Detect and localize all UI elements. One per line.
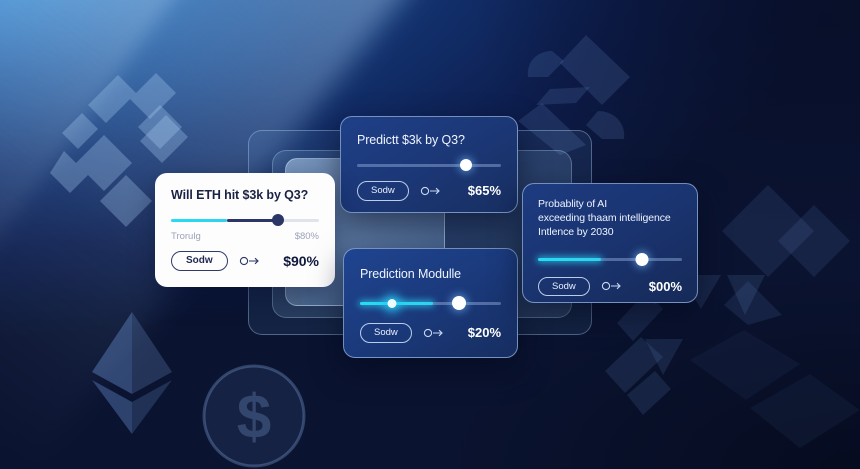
dollar-coin-icon: $	[198, 360, 310, 469]
geo-shape-far-right-icon	[690, 330, 860, 469]
scene-root: $ Predictt $3k by Q3? S	[0, 0, 860, 469]
prediction-card-middle[interactable]: Prediction Modulle Sodw $20%	[343, 248, 518, 358]
show-button[interactable]: Sodw	[171, 251, 228, 271]
prediction-card-white[interactable]: Will ETH hit $3k by Q3? Trorulg $80% Sod…	[155, 173, 335, 287]
percent-value: $65%	[468, 183, 501, 198]
slider-thumb[interactable]	[460, 159, 472, 171]
card-title-line-1: Probablity of AI	[538, 198, 682, 212]
slider-fill-cyan	[171, 219, 227, 222]
card-title: Prediction Modulle	[360, 267, 501, 281]
slider-label-left: Trorulg	[171, 231, 201, 242]
circle-arrow-icon[interactable]	[423, 328, 445, 338]
background-tint	[0, 0, 860, 469]
prediction-card-right[interactable]: Probablity of AI exceeding thaam intelli…	[522, 183, 698, 303]
geo-diamond-right-icon	[718, 185, 853, 325]
card-title-line-3: Intlence by 2030	[538, 226, 682, 240]
card-title-line-2: exceeding thaam intelligence	[538, 212, 682, 226]
percent-value: $00%	[649, 279, 682, 294]
show-button[interactable]: Sodw	[357, 181, 409, 201]
slider-fill-navy	[227, 219, 277, 222]
card-title: Predictt $3k by Q3?	[357, 133, 501, 147]
percent-value: $90%	[283, 253, 319, 269]
slider-fill-cyan	[538, 258, 601, 261]
probability-slider[interactable]	[171, 214, 319, 226]
slider-thumb[interactable]	[272, 214, 284, 226]
slider-thumb[interactable]	[452, 296, 466, 310]
show-button[interactable]: Sodw	[360, 323, 412, 343]
slider-label-right: $80%	[295, 231, 319, 242]
probability-slider[interactable]	[360, 297, 501, 309]
probability-slider[interactable]	[357, 159, 501, 171]
card-title: Will ETH hit $3k by Q3?	[171, 188, 319, 202]
percent-value: $20%	[468, 325, 501, 340]
probability-slider[interactable]	[538, 254, 682, 266]
show-button[interactable]: Sodw	[538, 277, 590, 297]
prediction-card-top[interactable]: Predictt $3k by Q3? Sodw $65%	[340, 116, 518, 213]
circle-arrow-icon[interactable]	[601, 281, 623, 291]
svg-text:$: $	[237, 383, 271, 452]
circle-arrow-icon[interactable]	[239, 256, 261, 266]
slider-glow-dot[interactable]	[388, 299, 397, 308]
circle-arrow-icon[interactable]	[420, 186, 442, 196]
slider-thumb[interactable]	[635, 253, 648, 266]
ethereum-logo-icon	[62, 300, 202, 445]
slider-track[interactable]	[357, 164, 501, 167]
